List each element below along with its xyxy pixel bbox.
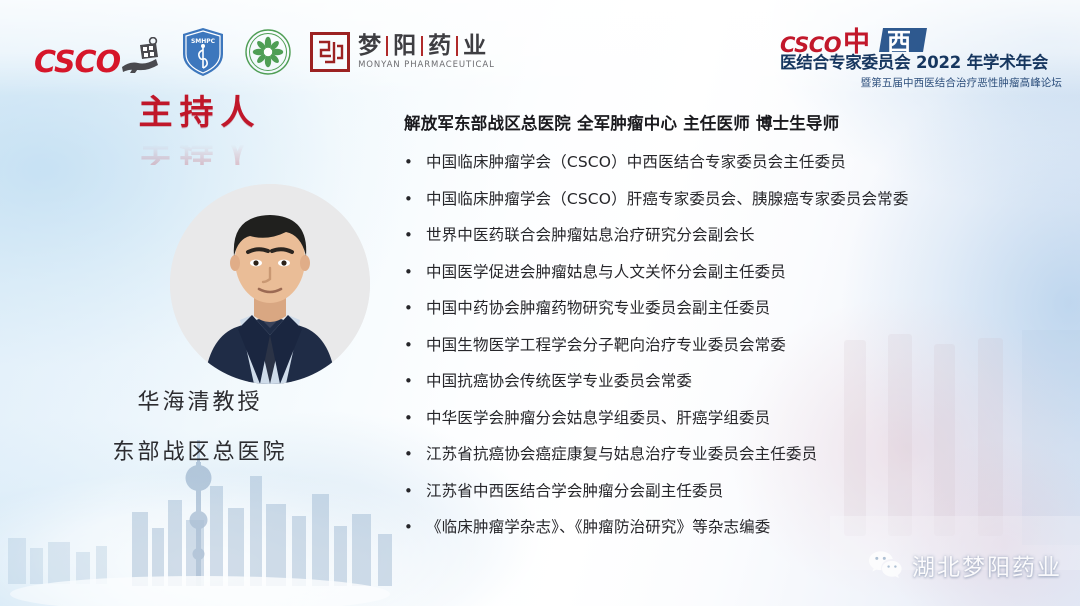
bullet-icon: •: [404, 226, 426, 246]
conference-logo-top-row: CSCO 中 西: [780, 26, 1062, 56]
speaker-organization: 东部战区总医院: [0, 434, 400, 466]
conference-title-line: 医结合专家委员会 2022 年学术年会: [780, 54, 1062, 72]
bio-list-item: •中国生物医学工程学会分子靶向治疗专业委员会常委: [404, 336, 1044, 356]
wechat-watermark: 湖北梦阳药业: [868, 548, 1062, 582]
svg-text:西: 西: [887, 28, 911, 56]
csco-tiger-icon: [116, 37, 162, 77]
bio-list-item-text: 中国生物医学工程学会分子靶向治疗专业委员会常委: [426, 336, 786, 355]
bio-list-item: •中国临床肿瘤学会（CSCO）中西医结合专家委员会主任委员: [404, 153, 1044, 173]
bullet-icon: •: [404, 299, 426, 319]
monyan-logo: 梦 阳 药 业 MONYAN PHARMACEUTICAL: [310, 32, 495, 72]
monyan-divider-3: [456, 36, 458, 56]
green-circle-emblem-icon: [244, 28, 292, 76]
bio-list-item: •中国中药协会肿瘤药物研究专业委员会副主任委员: [404, 299, 1044, 319]
wechat-logo-icon: [868, 550, 902, 580]
conference-logo: CSCO 中 西 医结合专家委员会 2022 年学术年会 暨第五届中西医结合治疗…: [780, 26, 1062, 90]
bio-list-item: •中华医学会肿瘤分会姑息学组委员、肝癌学组委员: [404, 409, 1044, 429]
svg-text:中: 中: [843, 27, 870, 56]
monyan-char-3: 药: [428, 35, 451, 58]
csco-wordmark: CSCO: [34, 48, 120, 78]
bio-list-item-text: 《临床肿瘤学杂志》、《肿瘤防治研究》等杂志编委: [426, 518, 770, 537]
bullet-icon: •: [404, 153, 426, 173]
presentation-slide: CSCO SMHPC: [0, 0, 1080, 606]
bio-list-item: •中国抗癌协会传统医学专业委员会常委: [404, 372, 1044, 392]
bullet-icon: •: [404, 372, 426, 392]
bio-list-item: •《临床肿瘤学杂志》、《肿瘤防治研究》等杂志编委: [404, 518, 1044, 538]
bio-list-item: •世界中医药联合会肿瘤姑息治疗研究分会副会长: [404, 226, 1044, 246]
role-title: 主持人: [0, 96, 400, 130]
smhpc-shield-icon: SMHPC: [180, 26, 226, 78]
role-title-reflection: 主持人: [0, 131, 400, 165]
bio-list-item-text: 江苏省中西医结合学会肿瘤分会副主任委员: [426, 482, 723, 501]
bullet-icon: •: [404, 336, 426, 356]
conference-zhongxi-mark: 中 西: [843, 26, 929, 56]
bio-list-item: •中国医学促进会肿瘤姑息与人文关怀分会副主任委员: [404, 263, 1044, 283]
bullet-icon: •: [404, 409, 426, 429]
bullet-icon: •: [404, 190, 426, 210]
speaker-name: 华海清教授: [0, 384, 400, 416]
monyan-emblem-icon: [310, 32, 350, 72]
monyan-divider-2: [421, 36, 423, 56]
monyan-char-2: 阳: [393, 35, 416, 58]
bullet-icon: •: [404, 518, 426, 538]
bio-credentials-list: •中国临床肿瘤学会（CSCO）中西医结合专家委员会主任委员•中国临床肿瘤学会（C…: [404, 153, 1044, 538]
bio-list-item-text: 中国中药协会肿瘤药物研究专业委员会副主任委员: [426, 299, 770, 318]
bio-list-item: •中国临床肿瘤学会（CSCO）肝癌专家委员会、胰腺癌专家委员会常委: [404, 190, 1044, 210]
conference-subtitle-line: 暨第五届中西医结合治疗恶性肿瘤高峰论坛: [780, 75, 1062, 90]
bio-list-item: •江苏省中西医结合学会肿瘤分会副主任委员: [404, 482, 1044, 502]
csco-logo: CSCO: [34, 26, 162, 78]
bio-heading: 解放军东部战区总医院 全军肿瘤中心 主任医师 博士生导师: [404, 110, 1044, 134]
bio-list-item-text: 中国医学促进会肿瘤姑息与人文关怀分会副主任委员: [426, 263, 786, 282]
role-title-block: 主持人 主持人: [0, 96, 400, 162]
bio-list-item-text: 世界中医药联合会肿瘤姑息治疗研究分会副会长: [426, 226, 755, 245]
speaker-panel: 主持人 主持人: [0, 96, 400, 466]
biography-panel: 解放军东部战区总医院 全军肿瘤中心 主任医师 博士生导师 •中国临床肿瘤学会（C…: [404, 110, 1044, 555]
bio-list-item-text: 中国临床肿瘤学会（CSCO）肝癌专家委员会、胰腺癌专家委员会常委: [426, 190, 909, 209]
bullet-icon: •: [404, 263, 426, 283]
speaker-portrait-photo: [170, 184, 370, 384]
bio-list-item-text: 中华医学会肿瘤分会姑息学组委员、肝癌学组委员: [426, 409, 770, 428]
monyan-char-1: 梦: [358, 35, 381, 58]
sponsor-logo-bar: CSCO SMHPC: [34, 26, 495, 78]
bullet-icon: •: [404, 445, 426, 465]
monyan-english-name: MONYAN PHARMACEUTICAL: [358, 60, 495, 70]
bio-list-item: •江苏省抗癌协会癌症康复与姑息治疗专业委员会主任委员: [404, 445, 1044, 465]
bullet-icon: •: [404, 482, 426, 502]
bio-list-item-text: 中国抗癌协会传统医学专业委员会常委: [426, 372, 692, 391]
svg-text:SMHPC: SMHPC: [191, 38, 216, 45]
monyan-divider-1: [386, 36, 388, 56]
watermark-text: 湖北梦阳药业: [912, 548, 1062, 582]
bio-list-item-text: 中国临床肿瘤学会（CSCO）中西医结合专家委员会主任委员: [426, 153, 846, 172]
monyan-char-4: 业: [463, 35, 486, 58]
monyan-chinese-name: 梦 阳 药 业: [358, 35, 495, 58]
bio-list-item-text: 江苏省抗癌协会癌症康复与姑息治疗专业委员会主任委员: [426, 445, 817, 464]
